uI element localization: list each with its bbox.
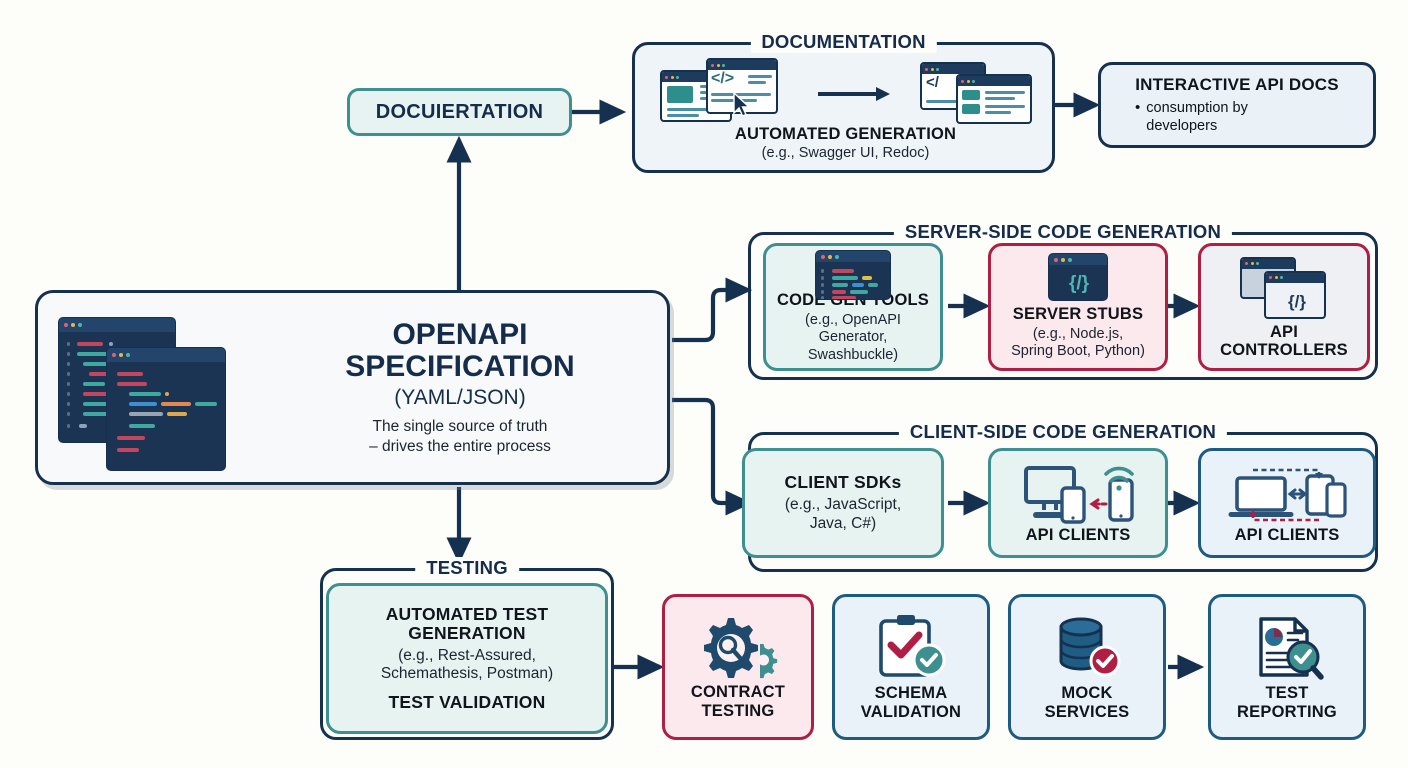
testing-group-label: TESTING	[415, 557, 519, 579]
test-reporting-title2: REPORTING	[1237, 703, 1337, 721]
code-windows-icon	[38, 299, 253, 477]
atg-sub1: (e.g., Rest-Assured,	[398, 647, 536, 664]
cursor-icon	[732, 92, 754, 118]
interactive-api-docs-node[interactable]: INTERACTIVE API DOCS • consumption by de…	[1098, 62, 1376, 148]
documentation-panel-title: AUTOMATED GENERATION	[648, 125, 1043, 143]
server-stubs-sub2: Spring Boot, Python)	[1011, 343, 1145, 359]
documentation-group-label: DOCUMENTATION	[750, 31, 936, 53]
api-clients-sync-node[interactable]: API CLIENTS	[1198, 448, 1376, 558]
code-braces-window-icon: {/}	[1048, 253, 1108, 301]
spec-desc-line2: – drives the entire process	[369, 438, 551, 455]
code-gen-tools-sub2: Swashbuckle)	[808, 347, 898, 363]
openapi-specification-node[interactable]: OPENAPI SPECIFICATION (YAML/JSON) The si…	[35, 290, 670, 485]
code-gen-tools-node[interactable]: CODE GEN TOOLS (e.g., OpenAPI Generator,…	[763, 243, 943, 371]
contract-testing-node[interactable]: CONTRACT TESTING	[662, 594, 814, 740]
schema-validation-title2: VALIDATION	[861, 703, 961, 721]
code-editor-icon	[815, 250, 891, 287]
gears-magnifier-icon	[694, 614, 782, 680]
mock-services-node[interactable]: MOCK SERVICES	[1008, 594, 1166, 740]
monitor-phone-wifi-icon	[1018, 462, 1138, 524]
server-stubs-title: SERVER STUBS	[1013, 305, 1143, 323]
browser-docs-icon: </	[920, 58, 1045, 124]
spec-desc-line1: The single source of truth	[373, 418, 548, 435]
mock-services-title2: SERVICES	[1045, 703, 1130, 721]
server-stubs-sub1: (e.g., Node.js,	[1033, 326, 1123, 342]
api-clients-devices-node[interactable]: API CLIENTS	[988, 448, 1168, 558]
code-gen-tools-sub1: (e.g., OpenAPI Generator,	[805, 312, 901, 345]
atg-sub2: Schemathesis, Postman)	[381, 665, 553, 682]
documentation-panel-subtitle: (e.g., Swagger UI, Redoc)	[648, 145, 1043, 162]
interactive-api-docs-title: INTERACTIVE API DOCS	[1135, 75, 1339, 94]
documentation-entry-label: DOCUIERTATION	[376, 101, 544, 124]
client-sdks-sub1: (e.g., JavaScript,	[785, 496, 901, 513]
browser-code-cursor-icon: </>	[660, 58, 790, 124]
spec-title-line2: SPECIFICATION	[345, 350, 574, 383]
documentation-panel: </> </	[648, 56, 1043, 166]
schema-validation-title1: SCHEMA	[875, 684, 948, 702]
api-clients-devices-title: API CLIENTS	[1026, 526, 1131, 544]
atg-footer: TEST VALIDATION	[389, 693, 546, 713]
interactive-api-docs-bullet: consumption by developers	[1146, 100, 1316, 135]
mock-services-title1: MOCK	[1061, 684, 1112, 702]
database-check-icon	[1047, 613, 1127, 681]
diagram-canvas: DOCUMENTATION DOCUIERTATION </>	[0, 0, 1408, 768]
test-reporting-title1: TEST	[1266, 684, 1309, 702]
client-side-group-label: CLIENT-SIDE CODE GENERATION	[899, 421, 1227, 443]
server-side-group-label: SERVER-SIDE CODE GENERATION	[894, 221, 1232, 243]
arrow-right-icon	[816, 84, 896, 104]
api-controllers-title: API CONTROLLERS	[1207, 323, 1361, 360]
stacked-code-windows-icon: {/}	[1238, 255, 1330, 321]
spec-format: (YAML/JSON)	[394, 386, 525, 410]
atg-title2: GENERATION	[408, 623, 525, 643]
schema-validation-node[interactable]: SCHEMA VALIDATION	[832, 594, 990, 740]
laptop-tablet-phone-sync-icon	[1223, 462, 1351, 524]
clipboard-check-icon	[871, 613, 951, 681]
contract-testing-title2: TESTING	[702, 702, 775, 720]
client-sdks-node[interactable]: CLIENT SDKs (e.g., JavaScript, Java, C#)	[742, 448, 944, 558]
documentation-entry-node[interactable]: DOCUIERTATION	[347, 88, 572, 136]
api-controllers-node[interactable]: {/} API CONTROLLERS	[1198, 243, 1370, 371]
api-clients-sync-title: API CLIENTS	[1235, 526, 1340, 544]
server-stubs-node[interactable]: {/} SERVER STUBS (e.g., Node.js, Spring …	[988, 243, 1168, 371]
client-sdks-sub2: Java, C#)	[810, 515, 876, 532]
contract-testing-title1: CONTRACT	[691, 683, 785, 701]
report-magnifier-icon	[1247, 613, 1327, 681]
automated-test-generation-node[interactable]: AUTOMATED TEST GENERATION (e.g., Rest-As…	[326, 583, 608, 734]
test-reporting-node[interactable]: TEST REPORTING	[1208, 594, 1366, 740]
spec-title-line1: OPENAPI	[392, 318, 527, 351]
bullet-icon: •	[1135, 100, 1140, 135]
atg-title1: AUTOMATED TEST	[386, 604, 549, 624]
client-sdks-title: CLIENT SDKs	[785, 473, 902, 493]
